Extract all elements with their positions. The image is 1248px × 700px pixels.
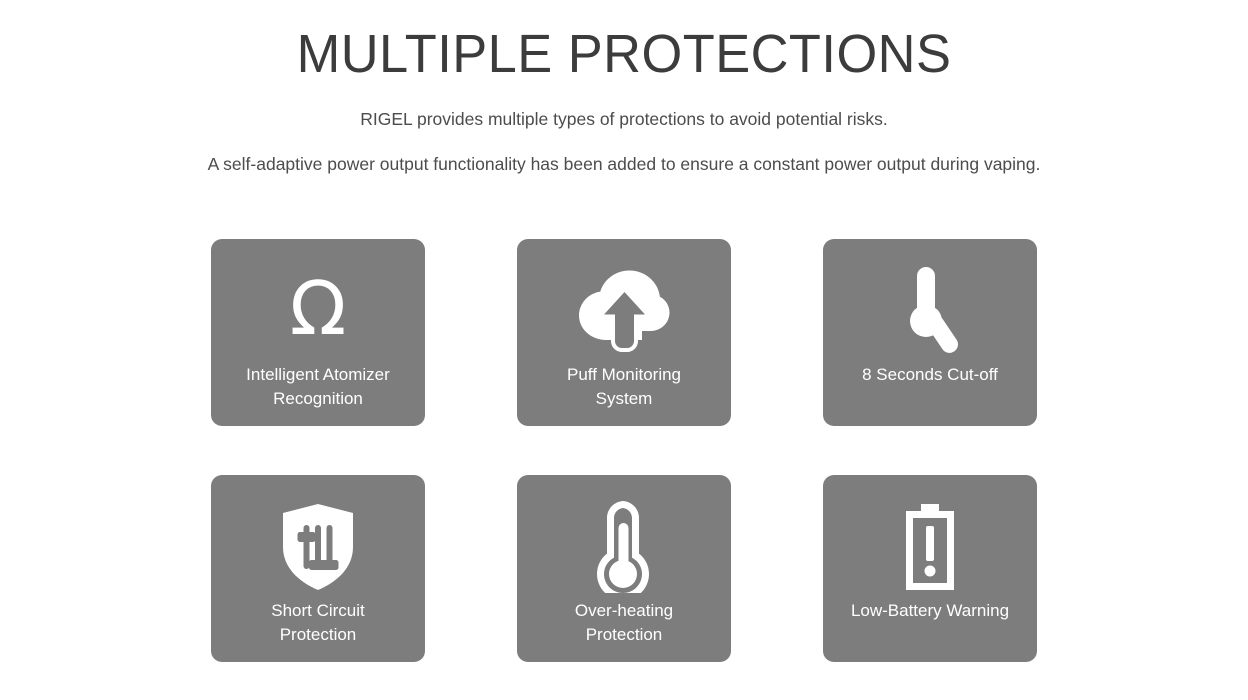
protections-row-1: Ω Intelligent Atomizer Recognition (0, 239, 1248, 426)
card-label: Intelligent Atomizer Recognition (211, 363, 425, 411)
card-puff-monitoring-system[interactable]: Puff Monitoring System (517, 239, 731, 426)
page-subtitle-line-1: RIGEL provides multiple types of protect… (0, 106, 1248, 132)
protections-grid: Ω Intelligent Atomizer Recognition (0, 239, 1248, 662)
thermometer-icon (593, 501, 655, 593)
page-subtitle-line-2: A self-adaptive power output functionali… (0, 151, 1248, 177)
card-label: Puff Monitoring System (517, 363, 731, 411)
card-low-battery-warning[interactable]: Low-Battery Warning (823, 475, 1037, 662)
multiple-protections-page: MULTIPLE PROTECTIONS RIGEL provides mult… (0, 0, 1248, 700)
omega-icon-glyph: Ω (290, 272, 347, 346)
card-label: Over-heating Protection (517, 599, 731, 647)
omega-icon: Ω (290, 265, 347, 357)
card-intelligent-atomizer-recognition[interactable]: Ω Intelligent Atomizer Recognition (211, 239, 425, 426)
protections-row-2: Short Circuit Protection O (0, 475, 1248, 662)
card-short-circuit-protection[interactable]: Short Circuit Protection (211, 475, 425, 662)
card-over-heating-protection[interactable]: Over-heating Protection (517, 475, 731, 662)
page-title: MULTIPLE PROTECTIONS (19, 24, 1230, 84)
clock-hands-icon (894, 265, 966, 357)
shield-sliders-icon (280, 501, 356, 593)
card-8-seconds-cut-off[interactable]: 8 Seconds Cut-off (823, 239, 1037, 426)
battery-warning-icon (901, 501, 959, 593)
cloud-upload-icon (578, 265, 670, 357)
page-header: MULTIPLE PROTECTIONS RIGEL provides mult… (0, 0, 1248, 177)
card-label: Short Circuit Protection (211, 599, 425, 647)
card-label: Low-Battery Warning (823, 599, 1037, 623)
card-label: 8 Seconds Cut-off (823, 363, 1037, 387)
